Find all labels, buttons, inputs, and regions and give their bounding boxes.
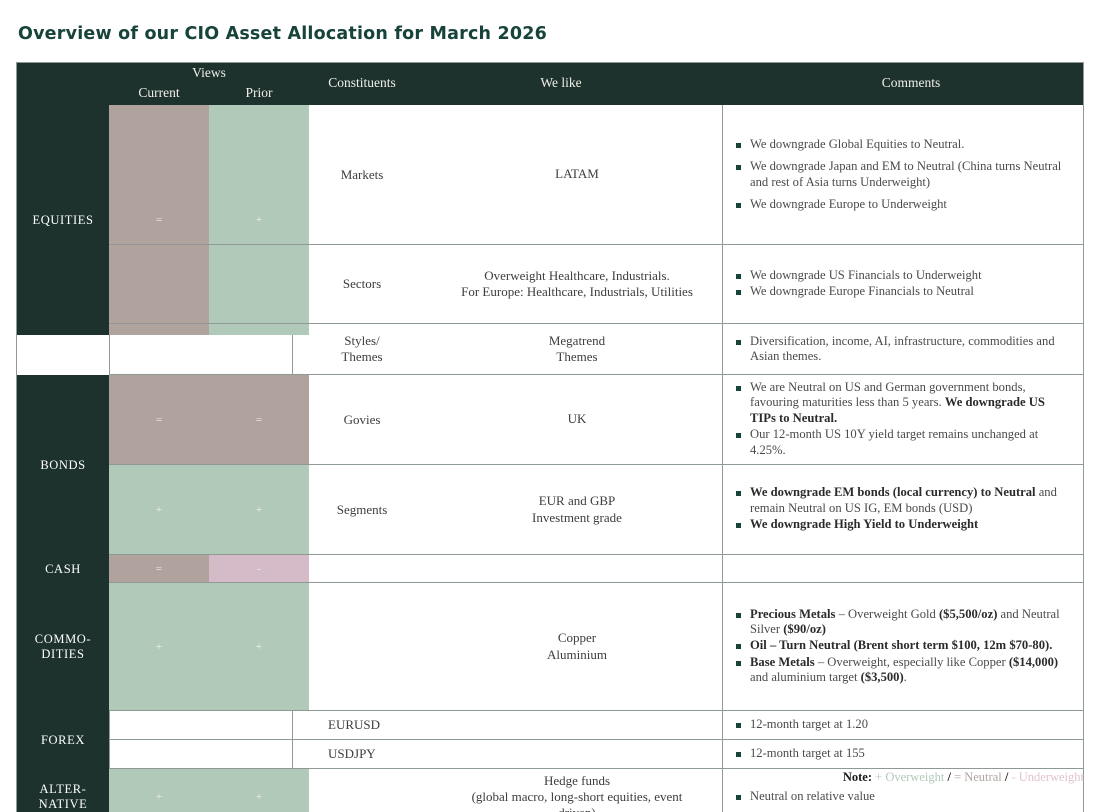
asset-class-label-line: DITIES (41, 647, 84, 661)
we-like-line: Hedge funds (544, 773, 610, 789)
we-like-line: Megatrend (549, 333, 605, 349)
asset-class-label: BONDS (40, 458, 85, 473)
we-like-commodities: Copper Aluminium (432, 583, 722, 710)
we-like-segments: EUR and GBP Investment grade (432, 465, 722, 554)
we-like-line: Overweight Healthcare, Industrials. (484, 268, 670, 284)
asset-class-alternative: ALTER- NATIVE (17, 769, 109, 812)
we-like-alternative: Hedge funds (global macro, long-short eq… (432, 769, 722, 812)
comment-text: – Overweight Gold (835, 607, 939, 621)
asset-class-label-line: ALTER- (40, 782, 87, 796)
list-item: We downgrade Japan and EM to Neutral (Ch… (736, 159, 1069, 190)
list-item: We are Neutral on US and German governme… (736, 380, 1069, 426)
constituent-sectors: Sectors (292, 245, 432, 323)
comments-cash (722, 555, 1077, 582)
comment-emphasis: ($3,500) (861, 670, 904, 684)
list-item: Oil – Turn Neutral (Brent short term $10… (736, 638, 1069, 653)
constituent-styles-themes: Styles/ Themes (292, 324, 432, 374)
comment-text: . (904, 670, 907, 684)
legend-underweight: - Underweight (1011, 770, 1084, 784)
table-header: Views Current Prior Constituents We like… (17, 63, 1083, 105)
comment-emphasis: We downgrade EM bonds (local currency) t… (750, 485, 1036, 499)
constituent-line: Themes (341, 349, 382, 365)
we-like-line: For Europe: Healthcare, Industrials, Uti… (461, 284, 693, 300)
comment-emphasis: Oil – Turn Neutral (Brent short term $10… (750, 638, 1052, 652)
column-header-views: Views (109, 65, 309, 81)
comment-text: – Overweight, especially like Copper (815, 655, 1009, 669)
list-item: We downgrade Europe to Underweight (736, 197, 1069, 212)
list-item: Diversification, income, AI, infrastruct… (736, 334, 1069, 365)
we-like-line: Aluminium (547, 647, 607, 663)
list-item: We downgrade Global Equities to Neutral. (736, 137, 1069, 152)
asset-class-label-line: COMMO- (35, 632, 91, 646)
asset-class-label-line: NATIVE (39, 797, 88, 811)
table-row-styles-themes: Styles/ Themes Megatrend Themes Diversif… (109, 324, 1083, 375)
table-row-commodities: Copper Aluminium Precious Metals – Overw… (109, 583, 1083, 711)
comment-emphasis: Precious Metals (750, 607, 835, 621)
asset-class-cash: CASH (17, 555, 109, 583)
asset-class-commodities: COMMO- DITIES (17, 583, 109, 711)
table-row-govies: Govies UK We are Neutral on US and Germa… (109, 375, 1083, 465)
we-like-markets: LATAM (432, 105, 722, 244)
list-item: Precious Metals – Overweight Gold ($5,50… (736, 607, 1069, 638)
table-row-cash (109, 555, 1083, 583)
constituent-cash (292, 555, 432, 582)
comment-emphasis: Base Metals (750, 655, 815, 669)
list-item: We downgrade US Financials to Underweigh… (736, 268, 1069, 283)
comments-segments: We downgrade EM bonds (local currency) t… (722, 465, 1077, 554)
table-body: EQUITIES = + Markets LATAM We downgrade … (17, 105, 1083, 769)
we-like-eurusd (432, 711, 722, 739)
we-like-cash (432, 555, 722, 582)
comment-emphasis: ($5,500/oz) (939, 607, 997, 621)
we-like-line: (global macro, long-short equities, even… (472, 789, 683, 805)
constituent-eurusd: EURUSD (292, 711, 432, 739)
we-like-line: Investment grade (532, 510, 622, 526)
comment-emphasis: ($14,000) (1009, 655, 1058, 669)
table-row-markets: Markets LATAM We downgrade Global Equiti… (109, 105, 1083, 245)
constituent-markets: Markets (292, 105, 432, 244)
comment-text: and aluminium target (750, 670, 861, 684)
asset-class-label: FOREX (41, 733, 85, 748)
comments-sectors: We downgrade US Financials to Underweigh… (722, 245, 1077, 323)
asset-allocation-page: Overview of our CIO Asset Allocation for… (0, 0, 1100, 812)
page-title: Overview of our CIO Asset Allocation for… (18, 24, 547, 44)
comment-emphasis: We downgrade High Yield to Underweight (750, 517, 978, 531)
we-like-styles-themes: Megatrend Themes (432, 324, 722, 374)
list-item: We downgrade High Yield to Underweight (736, 517, 1069, 532)
asset-class-label: EQUITIES (32, 213, 93, 228)
legend-neutral: = Neutral (954, 770, 1002, 784)
comments-usdjpy: 12-month target at 155 (722, 740, 1077, 768)
column-header-constituents: Constituents (292, 75, 432, 91)
list-item: Base Metals – Overweight, especially lik… (736, 655, 1069, 686)
note-label: Note: (843, 770, 872, 784)
asset-class-label: COMMO- DITIES (35, 632, 91, 662)
we-like-usdjpy (432, 740, 722, 768)
list-item: We downgrade EM bonds (local currency) t… (736, 485, 1069, 516)
constituent-segments: Segments (292, 465, 432, 554)
list-item: We downgrade Europe Financials to Neutra… (736, 284, 1069, 299)
comment-emphasis: ($90/oz) (783, 622, 826, 636)
list-item: 12-month target at 1.20 (736, 717, 1069, 732)
comments-markets: We downgrade Global Equities to Neutral.… (722, 105, 1077, 244)
we-like-govies: UK (432, 375, 722, 464)
we-like-line: Themes (556, 349, 597, 365)
we-like-line: EUR and GBP (539, 493, 616, 509)
comments-styles-themes: Diversification, income, AI, infrastruct… (722, 324, 1077, 374)
asset-class-label: CASH (45, 562, 81, 577)
table-row-sectors: Sectors Overweight Healthcare, Industria… (109, 245, 1083, 324)
we-like-sectors: Overweight Healthcare, Industrials. For … (432, 245, 722, 323)
comments-eurusd: 12-month target at 1.20 (722, 711, 1077, 739)
asset-class-label: ALTER- NATIVE (39, 782, 88, 812)
legend-note: Note: + Overweight / = Neutral / - Under… (843, 770, 1084, 785)
comments-govies: We are Neutral on US and German governme… (722, 375, 1077, 464)
table-row-eurusd: EURUSD 12-month target at 1.20 (109, 711, 1083, 740)
constituent-usdjpy: USDJPY (292, 740, 432, 768)
constituent-line: Styles/ (344, 333, 379, 349)
list-item: Neutral on relative value (736, 789, 1069, 804)
table-row-segments: Segments EUR and GBP Investment grade We… (109, 465, 1083, 555)
we-like-line: driven) (558, 805, 596, 812)
legend-overweight: + Overweight (875, 770, 944, 784)
table-row-usdjpy: USDJPY 12-month target at 155 (109, 740, 1083, 769)
list-item: 12-month target at 155 (736, 746, 1069, 761)
column-header-we-like: We like (432, 75, 690, 91)
list-item: Our 12-month US 10Y yield target remains… (736, 427, 1069, 458)
comments-commodities: Precious Metals – Overweight Gold ($5,50… (722, 583, 1077, 710)
asset-allocation-table: Views Current Prior Constituents We like… (16, 62, 1084, 812)
constituent-alternative (292, 769, 432, 812)
legend-separator: / (947, 770, 950, 784)
column-header-current: Current (109, 85, 209, 101)
we-like-line: Copper (558, 630, 596, 646)
constituent-commodities (292, 583, 432, 710)
legend-separator: / (1005, 770, 1008, 784)
asset-class-equities: EQUITIES (17, 105, 109, 335)
asset-class-bonds: BONDS (17, 375, 109, 555)
constituent-govies: Govies (292, 375, 432, 464)
asset-class-forex: FOREX (17, 711, 109, 769)
column-header-comments: Comments (722, 75, 1100, 91)
